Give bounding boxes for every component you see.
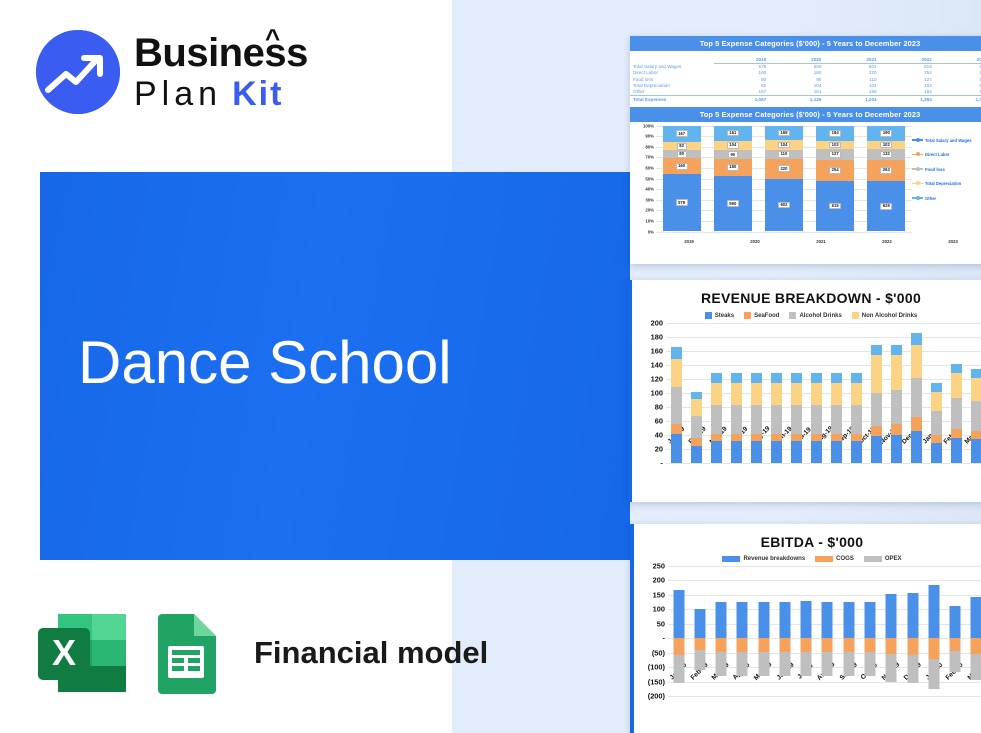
bar-positive (928, 585, 939, 639)
bar-segment: 90 (714, 150, 752, 158)
bar-segment (891, 390, 902, 424)
stacked-column (671, 347, 682, 463)
stacked-column (731, 373, 742, 463)
bar-segment (671, 359, 682, 388)
y-tick-label: 90% (645, 134, 654, 139)
table-cell: 184 (880, 88, 935, 95)
legend-marker-icon (789, 312, 796, 319)
bar-segment (911, 333, 922, 346)
legend-label: Total Depreciation (925, 181, 961, 186)
legend-item[interactable]: OPEX (864, 556, 902, 562)
bar-segment: 160 (663, 158, 701, 174)
gridline (666, 463, 981, 464)
ebitda-plot-wrap: 25020015010050-(50)(100)(150)(200) (634, 566, 981, 696)
y-tick-label: (50) (652, 648, 665, 657)
stacked-column (891, 345, 902, 463)
bar-segment (811, 434, 822, 441)
bar-segment (711, 434, 722, 441)
bar-negative (822, 638, 833, 652)
stacked-column (831, 373, 842, 463)
bar-segment (971, 378, 981, 402)
table-total-cell: 1,125 (769, 96, 824, 103)
table-cell: 169 (824, 88, 879, 95)
column-group (753, 566, 774, 696)
expense-chart-title: Top 5 Expense Categories ($'000) - 5 Yea… (630, 107, 981, 122)
bar-segment (831, 434, 842, 441)
bar-segment (811, 373, 822, 382)
bar-segment (811, 383, 822, 405)
page-title: Dance School (78, 328, 452, 397)
gridline (668, 696, 981, 697)
y-tick-label: 50% (645, 176, 654, 181)
brand-logo: Business ^ PlanKit (36, 30, 308, 114)
bar-segment (691, 399, 702, 416)
x-tick-label: 2020 (736, 239, 774, 244)
stacked-bar: 16110490180590 (714, 126, 752, 232)
table-cell: 161 (769, 88, 824, 95)
ebitda-plot-area (668, 566, 981, 696)
stacked-column (811, 373, 822, 463)
table-cell: 602 (824, 63, 879, 70)
legend-marker-icon (912, 183, 923, 184)
bar-negative (971, 654, 981, 680)
y-tick-label: 60 (655, 417, 663, 426)
stacked-column (871, 345, 882, 463)
y-tick-label: 70% (645, 155, 654, 160)
bar-negative (843, 652, 854, 676)
svg-text:X: X (52, 632, 76, 673)
legend-marker-icon (912, 139, 923, 140)
table-column-header: 2021 (824, 56, 879, 63)
bar-value-label: 254 (829, 167, 841, 174)
legend-item[interactable]: Direct Labor (912, 152, 981, 157)
logo-kit-label: Kit (232, 75, 283, 113)
column-group (668, 566, 689, 696)
bar-segment (791, 441, 802, 463)
bar-segment (851, 373, 862, 382)
stacked-column (791, 373, 802, 463)
bar-segment: 169 (765, 126, 803, 141)
x-tick-label: 2022 (868, 239, 906, 244)
ebitda-chart-legend[interactable]: Revenue breakdownsCOGSOPEX (634, 556, 981, 562)
table-column-header: 2023 (935, 56, 981, 63)
legend-label: Steaks (715, 313, 734, 319)
bar-segment (711, 373, 722, 382)
percent-y-axis: 100%90%80%70%60%50%40%30%20%10%0% (630, 126, 656, 232)
bar-segment (951, 438, 962, 463)
bar-segment (891, 435, 902, 463)
bar-segment (891, 355, 902, 390)
bar-segment: 629 (867, 181, 905, 232)
legend-item[interactable]: COGS (815, 556, 854, 562)
table-cell: 167 (714, 88, 769, 95)
bar-positive (907, 593, 918, 639)
bar-segment (731, 441, 742, 463)
bar-positive (737, 602, 748, 639)
revenue-bars (666, 323, 981, 463)
bar-segment: 82 (663, 142, 701, 150)
column-group (859, 566, 880, 696)
expense-table-title: Top 5 Expense Categories ($'000) - 5 Yea… (630, 36, 981, 51)
bar-value-label: 127 (829, 151, 841, 158)
y-tick-label: 100 (653, 605, 665, 614)
bar-segment (911, 378, 922, 417)
legend-label: Direct Labor (925, 152, 950, 157)
stacked-bar: 169104110220602 (765, 126, 803, 232)
column-group (706, 323, 726, 463)
column-group (944, 566, 965, 696)
stacked-column (711, 373, 722, 463)
bar-negative (779, 638, 790, 652)
bar-negative (716, 638, 727, 652)
bar-segment (691, 392, 702, 399)
table-total-row: Total Expenses1,0671,1251,2041,2841,316 (630, 96, 981, 103)
y-tick-label: 250 (653, 562, 665, 571)
bar-segment (931, 392, 942, 412)
table-column-header: 2019 (714, 56, 769, 63)
y-tick-label: 200 (651, 319, 663, 328)
legend-marker-icon (912, 197, 923, 198)
column-group (887, 323, 907, 463)
bar-segment (931, 411, 942, 435)
legend-marker-icon (815, 556, 833, 562)
table-cell: 578 (714, 63, 769, 70)
bar-negative (907, 655, 918, 683)
bar-segment (831, 405, 842, 434)
bar-value-label: 220 (778, 165, 790, 172)
bar-segment: 184 (816, 126, 854, 141)
column-group (966, 566, 981, 696)
bar-negative (886, 654, 897, 682)
legend-label: Alcohol Drinks (799, 313, 841, 319)
expense-chart-legend[interactable]: Total Salary and WagesDirect LaborFood l… (912, 126, 981, 246)
bar-segment (851, 441, 862, 463)
bar-value-label: 180 (727, 164, 739, 171)
bar-positive (971, 597, 981, 638)
table-header-row: 20192020202120222023 (630, 56, 981, 63)
bar-segment: 254 (816, 160, 854, 181)
table-total-cell: 1,067 (714, 96, 769, 103)
bar-value-label: 590 (727, 200, 739, 207)
bar-segment: 127 (816, 149, 854, 159)
bar-value-label: 90 (728, 151, 738, 158)
bar-segment (791, 405, 802, 434)
bar-segment (711, 405, 722, 434)
bar-negative (928, 659, 939, 689)
column-group (732, 566, 753, 696)
bar-segment (951, 373, 962, 397)
growth-arrow-circle-icon (36, 30, 120, 114)
bar-segment: 104 (765, 140, 803, 149)
column-group (907, 323, 927, 463)
y-tick-label: 100 (651, 389, 663, 398)
bar-segment: 104 (714, 141, 752, 151)
y-tick-label: 160 (651, 347, 663, 356)
bar-positive (801, 601, 812, 638)
bar-negative (950, 638, 961, 651)
bar-negative (822, 652, 833, 676)
bar-segment (951, 429, 962, 438)
bar-value-label: 103 (829, 142, 841, 149)
x-tick-label: 2021 (802, 239, 840, 244)
google-sheets-icon (150, 612, 222, 694)
bar-segment (751, 383, 762, 405)
table-cell: 190 (935, 88, 981, 95)
column-group (827, 323, 847, 463)
legend-item[interactable]: Alcohol Drinks (789, 312, 841, 319)
stacked-column (851, 373, 862, 463)
percent-x-axis: 20192020202120222023 (656, 239, 981, 244)
bar-value-label: 578 (676, 199, 688, 206)
bar-segment: 132 (867, 149, 905, 160)
logo-text-plan-kit: PlanKit (134, 77, 308, 111)
bar-value-label: 629 (880, 203, 892, 210)
bar-segment (951, 398, 962, 429)
table-cell: 629 (935, 63, 981, 70)
stacked-column (771, 373, 782, 463)
column-group (927, 323, 947, 463)
bar-segment (791, 373, 802, 382)
bar-segment (771, 383, 782, 405)
column-group (666, 323, 686, 463)
y-tick-label: - (663, 634, 665, 643)
bar-negative (779, 652, 790, 676)
bar-segment (971, 431, 981, 439)
bar-segment (691, 446, 702, 463)
stacked-column (951, 364, 962, 463)
bar-value-label: 160 (676, 163, 688, 170)
bar-negative (928, 638, 939, 659)
bar-negative (758, 652, 769, 676)
bar-segment (771, 373, 782, 382)
legend-item[interactable]: Total Depreciation (912, 181, 981, 186)
bar-negative (971, 638, 981, 654)
legend-label: Non Alcohol Drinks (862, 313, 917, 319)
y-tick-label: 20% (645, 208, 654, 213)
y-tick-label: 120 (651, 375, 663, 384)
bar-segment: 590 (714, 176, 752, 232)
bar-segment (931, 443, 942, 463)
bar-segment (911, 345, 922, 377)
bar-segment (971, 439, 981, 463)
ebitda-bars (668, 566, 981, 696)
bar-segment: 180 (714, 159, 752, 176)
bar-segment (811, 441, 822, 463)
bar-value-label: 615 (829, 203, 841, 210)
stacked-bar: 184103127254615 (816, 126, 854, 232)
bar-segment (891, 345, 902, 355)
bar-segment (791, 383, 802, 405)
bar-value-label: 110 (778, 151, 790, 158)
stacked-bar: 1678280160578 (663, 126, 701, 232)
y-tick-label: 150 (653, 590, 665, 599)
microsoft-excel-icon: X (36, 612, 128, 694)
bar-segment (871, 345, 882, 355)
bar-positive (886, 594, 897, 638)
legend-item[interactable]: Revenue breakdowns (722, 556, 805, 562)
column-group (806, 323, 826, 463)
legend-marker-icon (912, 154, 923, 155)
expense-percent-stacked-chart[interactable]: 100%90%80%70%60%50%40%30%20%10%0% 167828… (630, 122, 981, 246)
column-group (838, 566, 859, 696)
bar-segment (791, 434, 802, 441)
legend-item[interactable]: SeaFood (744, 312, 779, 319)
x-tick-label: 2023 (934, 239, 972, 244)
revenue-breakdown-card[interactable]: REVENUE BREAKDOWN - $'000 SteaksSeaFoodA… (628, 280, 981, 502)
bar-positive (758, 602, 769, 639)
bar-value-label: 104 (727, 142, 739, 149)
expense-categories-card[interactable]: Top 5 Expense Categories ($'000) - 5 Yea… (630, 36, 981, 264)
bar-negative (865, 638, 876, 652)
column-group (726, 323, 746, 463)
bar-positive (673, 590, 684, 638)
column-group (774, 566, 795, 696)
bar-positive (822, 602, 833, 638)
column-group (923, 566, 944, 696)
bar-negative (907, 638, 918, 654)
legend-item[interactable]: Steaks (705, 312, 734, 319)
bar-segment (811, 405, 822, 434)
legend-marker-icon (744, 312, 751, 319)
bar-value-label: 190 (880, 130, 892, 137)
column-group (847, 323, 867, 463)
bar-segment: 161 (714, 126, 752, 141)
bar-segment: 80 (663, 150, 701, 158)
bar-negative (673, 655, 684, 683)
legend-label: COGS (836, 556, 854, 562)
y-tick-label: 40% (645, 187, 654, 192)
table-column-header: 2020 (769, 56, 824, 63)
column-group (746, 323, 766, 463)
bar-segment (931, 383, 942, 391)
gridline (656, 232, 912, 233)
y-tick-label: 10% (645, 218, 654, 223)
legend-label: OPEX (885, 556, 902, 562)
logo-plan-label: Plan (134, 75, 222, 113)
legend-marker-icon (722, 556, 740, 562)
bar-segment: 110 (765, 150, 803, 160)
bar-value-label: 132 (880, 151, 892, 158)
bar-negative (716, 652, 727, 676)
y-tick-label: 50 (657, 619, 665, 628)
legend-marker-icon (912, 168, 923, 169)
bar-segment (871, 436, 882, 463)
slide-canvas: Business ^ PlanKit Dance School X (0, 0, 981, 733)
bar-segment (831, 441, 842, 463)
bar-segment (771, 434, 782, 441)
legend-item[interactable]: Total Salary and Wages (912, 138, 981, 143)
legend-item[interactable]: Other (912, 196, 981, 201)
bar-positive (694, 609, 705, 638)
column-group (711, 566, 732, 696)
y-tick-label: 200 (653, 576, 665, 585)
y-tick-label: (200) (648, 692, 665, 701)
bar-segment (911, 431, 922, 463)
column-group (686, 323, 706, 463)
bar-segment (711, 441, 722, 463)
bar-segment (671, 387, 682, 423)
bar-segment (851, 383, 862, 405)
bar-segment (671, 434, 682, 463)
table-row-label: Other (630, 88, 714, 95)
bar-negative (886, 638, 897, 653)
bar-segment (771, 441, 782, 463)
logo-business-label: Business (134, 31, 308, 75)
column-group (766, 323, 786, 463)
bar-segment (691, 416, 702, 438)
percent-plot-area: 1678280160578161104901805901691041102206… (656, 126, 912, 232)
legend-item[interactable]: Non Alcohol Drinks (852, 312, 917, 319)
column-group (786, 323, 806, 463)
bar-segment: 167 (663, 126, 701, 143)
legend-label: Total Salary and Wages (925, 138, 972, 143)
bar-segment (771, 405, 782, 434)
bar-segment: 220 (765, 159, 803, 178)
y-tick-label: 60% (645, 165, 654, 170)
bar-value-label: 184 (829, 130, 841, 137)
ebitda-chart-title: EBITDA - $'000 (634, 534, 981, 550)
bar-segment (971, 369, 981, 378)
stacked-column (691, 392, 702, 463)
y-tick-label: 20 (655, 445, 663, 454)
legend-item[interactable]: Food loss (912, 167, 981, 172)
column-group (967, 323, 981, 463)
table-row: Total Salary and Wages578590602615629 (630, 63, 981, 70)
bar-positive (865, 602, 876, 638)
stacked-column (751, 373, 762, 463)
revenue-plot-area (666, 323, 981, 463)
table-row-label: Total Salary and Wages (630, 63, 714, 70)
bar-value-label: 104 (778, 142, 790, 149)
bar-value-label: 263 (880, 167, 892, 174)
bar-segment (751, 405, 762, 434)
y-tick-label: (100) (648, 663, 665, 672)
bar-negative (950, 651, 961, 672)
revenue-chart-legend[interactable]: SteaksSeaFoodAlcohol DrinksNon Alcohol D… (632, 312, 981, 319)
y-tick-label: 0% (648, 229, 654, 234)
logo-text-business: Business ^ (134, 33, 308, 73)
y-tick-label: 30% (645, 197, 654, 202)
bar-negative (737, 638, 748, 652)
bar-negative (737, 652, 748, 676)
column-group (796, 566, 817, 696)
bar-value-label: 169 (778, 130, 790, 137)
y-tick-label: - (661, 459, 663, 468)
bar-negative (694, 650, 705, 670)
y-tick-label: 100% (643, 123, 654, 128)
legend-marker-icon (852, 312, 859, 319)
bar-positive (843, 602, 854, 638)
bar-value-label: 161 (727, 130, 739, 137)
bar-segment (691, 438, 702, 446)
y-tick-label: 80 (655, 403, 663, 412)
bar-segment: 578 (663, 174, 701, 231)
expense-table: 20192020202120222023 Total Salary and Wa… (630, 56, 981, 103)
ebitda-card[interactable]: EBITDA - $'000 Revenue breakdownsCOGSOPE… (630, 524, 981, 733)
bar-segment: 103 (816, 141, 854, 150)
financial-model-label: Financial model (254, 635, 488, 671)
x-tick-label: 2019 (670, 239, 708, 244)
y-tick-label: 40 (655, 431, 663, 440)
bar-value-label: 167 (676, 130, 688, 137)
bar-segment (911, 417, 922, 431)
bar-segment (871, 426, 882, 436)
stacked-column (931, 383, 942, 463)
bar-negative (801, 638, 812, 652)
bar-segment (711, 383, 722, 405)
bar-segment: 190 (867, 126, 905, 141)
table-cell: 590 (769, 63, 824, 70)
